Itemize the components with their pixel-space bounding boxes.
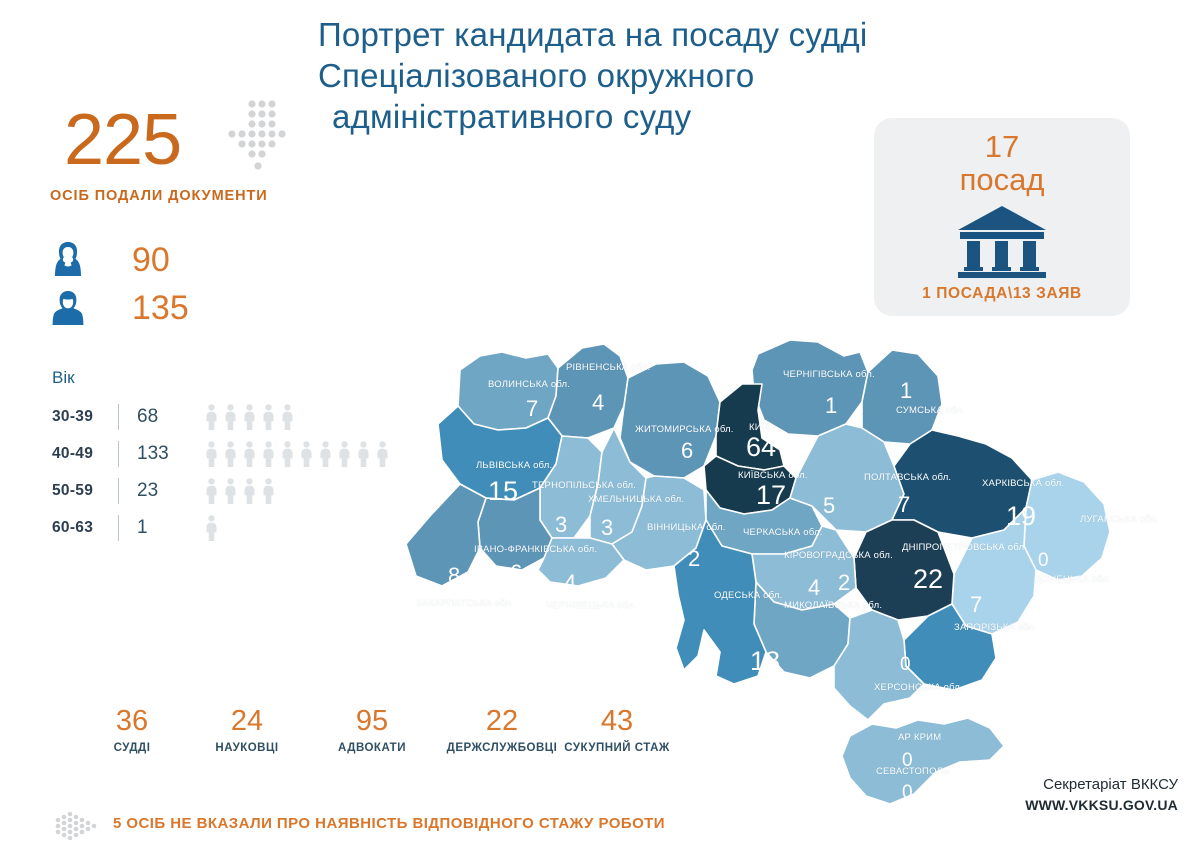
person-figure-icon [203,404,220,430]
age-range-label: 30-39 [52,408,118,426]
applicants-count: 225 [64,104,181,176]
map-region[interactable] [458,352,558,430]
age-count-value: 133 [137,443,199,465]
person-figure-icon [260,441,277,467]
age-range-label: 60-63 [52,519,118,537]
map-region[interactable] [620,362,720,478]
age-divider [118,515,119,541]
age-figure-group [203,515,220,541]
gender-female-row: 90 [50,240,170,280]
person-figure-icon [241,404,258,430]
female-count: 90 [132,243,170,277]
age-range-label: 40-49 [52,445,118,463]
bottom-stat-caption: СУКУПНИЙ СТАЖ [547,741,687,755]
bottom-stat-number: 24 [177,706,317,737]
male-icon [50,288,86,328]
map-region[interactable] [548,344,628,438]
person-figure-icon [317,441,334,467]
title-line-2: Спеціалізованого окружного [318,55,938,96]
bottom-stat-caption: НАУКОВЦІ [177,741,317,755]
person-figure-icon [222,404,239,430]
person-figure-icon [260,478,277,504]
person-figure-icon [203,515,220,541]
age-row: 50-5923 [52,472,422,509]
age-row: 40-49133 [52,435,422,472]
age-row: 60-631 [52,509,422,546]
age-figure-group [203,441,391,467]
age-row: 30-3968 [52,398,422,435]
page-title: Портрет кандидата на посаду судді Спеціа… [318,14,938,137]
positions-word: посад [874,163,1130,197]
credit-block: Секретаріат ВККСУ WWW.VKKSU.GOV.UA [1025,775,1178,815]
map-shapes [398,332,1200,832]
person-figure-icon [203,478,220,504]
age-count-value: 23 [137,480,199,502]
map-region[interactable] [842,718,1004,804]
title-line-1: Портрет кандидата на посаду судді [318,16,867,53]
age-count-value: 68 [137,406,199,428]
map-region[interactable] [854,520,954,620]
ukraine-choropleth-map: ВОЛИНСЬКА обл.7РІВНЕНСЬКА обл.4ЖИТОМИРСЬ… [398,332,1200,832]
age-range-label: 50-59 [52,482,118,500]
age-count-value: 1 [137,517,199,539]
bottom-stat-caption: АДВОКАТИ [302,741,442,755]
dotted-down-arrow-icon [228,98,292,176]
age-figure-group [203,478,277,504]
gender-male-row: 135 [50,288,189,328]
person-figure-icon [222,478,239,504]
infographic-canvas: Портрет кандидата на посаду судді Спеціа… [0,0,1200,857]
positions-card: 17 посад 1 ПОСАДА\13 ЗАЯВ [874,118,1130,316]
bottom-stat-number: 95 [302,706,442,737]
map-region[interactable] [752,340,868,436]
person-figure-icon [241,441,258,467]
bottom-stat-item: 43СУКУПНИЙ СТАЖ [547,706,687,755]
bank-building-icon [954,204,1050,280]
person-figure-icon [336,441,353,467]
bottom-stat-number: 43 [547,706,687,737]
person-figure-icon [355,441,372,467]
age-divider [118,441,119,467]
bottom-stat-item: 24НАУКОВЦІ [177,706,317,755]
credit-url: WWW.VKKSU.GOV.UA [1025,795,1178,815]
person-figure-icon [203,441,220,467]
credit-org: Секретаріат ВККСУ [1025,775,1178,795]
female-icon [50,240,86,280]
age-table: 30-396840-4913350-592360-631 [52,398,422,546]
person-figure-icon [260,404,277,430]
age-divider [118,404,119,430]
positions-number: 17 [874,130,1130,164]
age-section-title: Вік [52,368,75,388]
map-region[interactable] [862,350,942,444]
title-line-3: адміністративного суду [318,96,938,137]
male-count: 135 [132,291,189,325]
map-region[interactable] [1024,472,1110,580]
footnote-text: 5 ОСІБ НЕ ВКАЗАЛИ ПРО НАЯВНІСТЬ ВІДПОВІД… [113,815,665,832]
person-figure-icon [279,404,296,430]
age-divider [118,478,119,504]
person-figure-icon [374,441,391,467]
age-figure-group [203,404,296,430]
positions-ratio: 1 ПОСАДА\13 ЗАЯВ [874,285,1130,303]
bottom-stat-item: 95АДВОКАТИ [302,706,442,755]
map-region[interactable] [406,484,486,586]
dotted-right-arrow-icon [55,806,103,846]
map-region[interactable] [538,538,624,586]
person-figure-icon [298,441,315,467]
person-figure-icon [279,441,296,467]
applicants-caption: ОСІБ ПОДАЛИ ДОКУМЕНТИ [50,188,268,204]
person-figure-icon [222,441,239,467]
person-figure-icon [241,478,258,504]
